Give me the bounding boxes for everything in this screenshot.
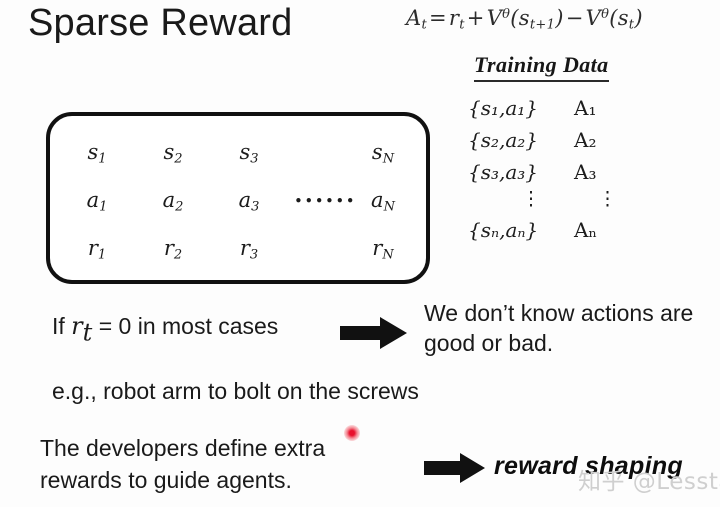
reward-cell-n: rN bbox=[360, 236, 406, 263]
reward-cell-1: r1 bbox=[74, 236, 120, 263]
slide-canvas: Sparse Reward At=rt+Vθ(st+1)−Vθ(st) Trai… bbox=[0, 0, 720, 507]
advantage-equation: At=rt+Vθ(st+1)−Vθ(st) bbox=[406, 6, 643, 33]
equation-lhs: A bbox=[406, 6, 421, 30]
equation-value1: V bbox=[487, 6, 502, 30]
condition-statement: If rt = 0 in most cases bbox=[52, 312, 278, 347]
condition-symbol-sub: t bbox=[83, 319, 93, 347]
reward-cell-2: r2 bbox=[150, 236, 196, 263]
training-pair: {s₂,a₂} bbox=[468, 128, 574, 152]
watermark: 知乎 @Lesstalk bbox=[578, 462, 720, 496]
developers-statement: The developers define extra rewards to g… bbox=[40, 432, 410, 496]
training-data-row: {s₃,a₃} A₃ bbox=[468, 160, 658, 192]
trajectory-box: s1 s2 s3 sN a1 a2 a3 •••••• aN r1 r2 r3 … bbox=[46, 112, 430, 284]
action-cell-2: a2 bbox=[150, 188, 196, 215]
horizontal-ellipsis-icon: •••••• bbox=[294, 192, 354, 210]
equation-reward-sub: t bbox=[459, 18, 465, 33]
training-advantage: A₂ bbox=[574, 128, 596, 152]
training-advantage: A₃ bbox=[574, 160, 596, 184]
state-cell-1: s1 bbox=[74, 140, 120, 167]
state-cell-n: sN bbox=[360, 140, 406, 167]
laser-pointer-dot bbox=[344, 425, 360, 441]
consequence-statement: We don’t know actions are good or bad. bbox=[424, 298, 714, 358]
equation-value2-arg: (s bbox=[609, 6, 629, 30]
right-arrow-icon bbox=[340, 316, 408, 355]
training-pair: {s₁,a₁} bbox=[468, 96, 574, 120]
equation-value1-close: ) bbox=[555, 6, 564, 30]
equation-plus: + bbox=[465, 6, 487, 30]
vertical-ellipsis-icon: ⋮ bbox=[584, 192, 617, 207]
equation-value1-arg-sub: t+1 bbox=[530, 18, 555, 33]
action-cell-1: a1 bbox=[74, 188, 120, 215]
reward-row: r1 r2 r3 rN bbox=[50, 236, 426, 260]
page-title: Sparse Reward bbox=[28, 2, 293, 45]
condition-suffix: = 0 in most cases bbox=[92, 313, 278, 339]
example-statement: e.g., robot arm to bolt on the screws bbox=[52, 378, 419, 405]
state-row: s1 s2 s3 sN bbox=[50, 140, 426, 164]
vertical-ellipsis-icon: ⋮ bbox=[468, 192, 584, 207]
training-data-row: {sₙ,aₙ} Aₙ bbox=[468, 218, 658, 250]
reward-cell-3: r3 bbox=[226, 236, 272, 263]
equation-reward: r bbox=[449, 6, 459, 30]
training-pair: {sₙ,aₙ} bbox=[468, 218, 574, 242]
right-arrow-icon bbox=[424, 452, 486, 489]
action-cell-3: a3 bbox=[226, 188, 272, 215]
training-data-row: {s₁,a₁} A₁ bbox=[468, 96, 658, 128]
equation-value1-arg: (s bbox=[510, 6, 530, 30]
condition-prefix: If bbox=[52, 313, 71, 339]
training-data-list: {s₁,a₁} A₁ {s₂,a₂} A₂ {s₃,a₃} A₃ ⋮ ⋮ {sₙ… bbox=[468, 96, 658, 250]
equation-value2: V bbox=[586, 6, 601, 30]
state-cell-2: s2 bbox=[150, 140, 196, 167]
equation-value2-close: ) bbox=[634, 6, 643, 30]
action-row: a1 a2 a3 •••••• aN bbox=[50, 188, 426, 212]
equation-value2-theta: θ bbox=[601, 7, 609, 22]
training-data-heading: Training Data bbox=[474, 52, 609, 82]
training-pair: {s₃,a₃} bbox=[468, 160, 574, 184]
training-advantage: Aₙ bbox=[574, 218, 597, 242]
condition-symbol: r bbox=[71, 312, 82, 340]
action-cell-n: aN bbox=[360, 188, 406, 215]
training-data-row: {s₂,a₂} A₂ bbox=[468, 128, 658, 160]
equation-equals: = bbox=[427, 6, 449, 30]
state-cell-3: s3 bbox=[226, 140, 272, 167]
equation-minus: − bbox=[564, 6, 586, 30]
training-data-ellipsis-row: ⋮ ⋮ bbox=[468, 192, 658, 218]
training-advantage: A₁ bbox=[574, 96, 596, 120]
